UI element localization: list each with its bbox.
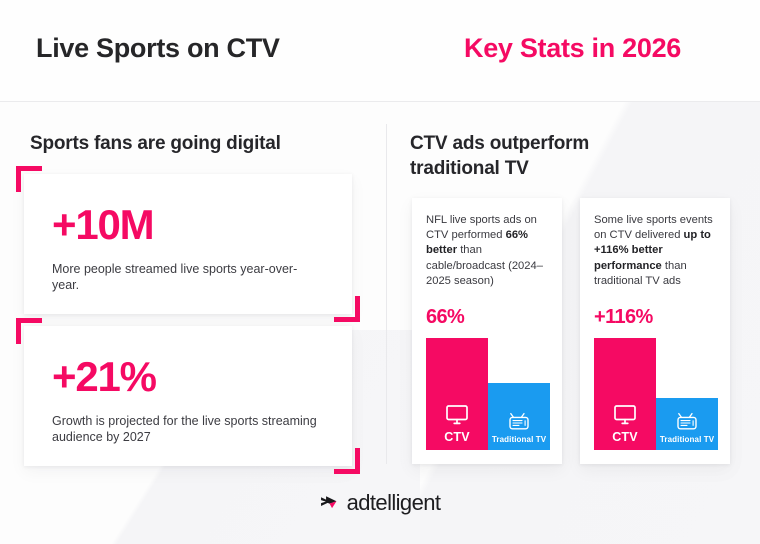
stat-value: +21% [52, 355, 156, 399]
bar-traditional-tv: Traditional TV [488, 383, 550, 450]
bar-ctv: CTV [594, 338, 656, 450]
bar-label-traditional-tv: Traditional TV [660, 435, 714, 444]
retro-tv-icon [508, 412, 530, 431]
stat-description: More people streamed live sports year-ov… [52, 261, 324, 293]
chart-card-figure: +116% [594, 306, 653, 329]
left-section-heading: Sports fans are going digital [30, 131, 281, 156]
bar-label-traditional-tv: Traditional TV [492, 435, 546, 444]
monitor-icon [445, 404, 469, 426]
chart-card-blurb: Some live sports events on CTV delivered… [594, 213, 718, 289]
bar-label-ctv: CTV [444, 430, 470, 444]
bar-ctv: CTV [426, 338, 488, 450]
monitor-icon [613, 404, 637, 426]
chart-card-figure: 66% [426, 306, 464, 329]
bar-chart: CTV Traditional TV [426, 338, 550, 450]
stat-value: +10M [52, 203, 153, 247]
stat-description: Growth is projected for the live sports … [52, 413, 324, 445]
chart-card-live-events-116: Some live sports events on CTV delivered… [580, 198, 730, 464]
stat-card-10m: +10M More people streamed live sports ye… [24, 174, 352, 314]
corner-bracket-top-left-icon [16, 318, 42, 344]
corner-bracket-bottom-right-icon [334, 296, 360, 322]
brand-logo-text: adtelligent [347, 490, 441, 516]
header-bar: Live Sports on CTV Key Stats in 2026 [0, 0, 760, 102]
corner-bracket-top-left-icon [16, 166, 42, 192]
corner-bracket-bottom-right-icon [334, 448, 360, 474]
infographic-page: Live Sports on CTV Key Stats in 2026 Spo… [0, 0, 760, 544]
chart-card-nfl-66: NFL live sports ads on CTV performed 66%… [412, 198, 562, 464]
page-subtitle-accent: Key Stats in 2026 [464, 33, 681, 64]
chart-card-blurb: NFL live sports ads on CTV performed 66%… [426, 213, 550, 289]
bar-chart: CTV Traditional TV [594, 338, 718, 450]
right-section-heading: CTV ads outperform traditional TV [410, 131, 660, 181]
bar-label-ctv: CTV [612, 430, 638, 444]
stat-card-21pct: +21% Growth is projected for the live sp… [24, 326, 352, 466]
page-title: Live Sports on CTV [36, 33, 280, 64]
bar-traditional-tv: Traditional TV [656, 398, 718, 450]
retro-tv-icon [676, 412, 698, 431]
column-divider [386, 124, 387, 464]
header-divider [0, 101, 760, 102]
adtelligent-arrow-icon [320, 494, 342, 512]
brand-logo: adtelligent [320, 490, 441, 516]
